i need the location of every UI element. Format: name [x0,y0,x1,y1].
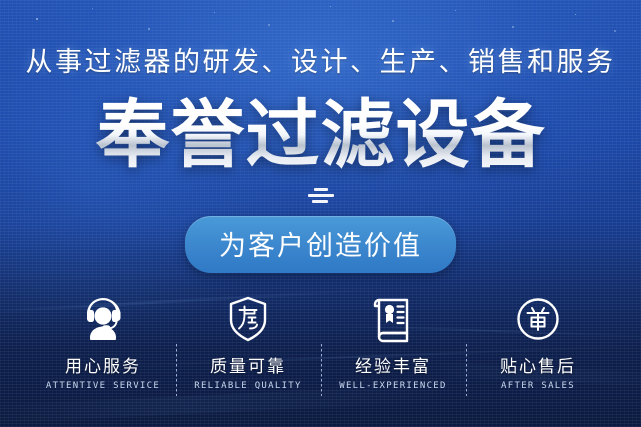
feature-item-attentive-service[interactable]: 用心服务 ATTENTIVE SERVICE [31,292,176,391]
feature-item-reliable-quality[interactable]: 质量可靠 RELIABLE QUALITY [176,292,321,391]
feature-title-cn: 用心服务 [31,352,176,377]
feature-title-en: WELL-EXPERIENCED [321,381,466,391]
shield-quality-icon [176,292,321,346]
feature-title-en: RELIABLE QUALITY [176,381,321,391]
after-sales-circle-icon [466,292,611,346]
feature-title-cn: 质量可靠 [176,352,321,377]
certificate-scroll-icon [321,292,466,346]
banner-title-wrap: 奉誉过滤设备 [0,92,641,178]
feature-title-cn: 经验丰富 [321,352,466,377]
promo-banner: 从事过滤器的研发、设计、生产、销售和服务 奉誉过滤设备 为客户创造价值 用心服务… [0,0,641,427]
feature-item-after-sales[interactable]: 贴心售后 AFTER SALES [466,292,611,391]
headset-support-icon [31,292,176,346]
three-bars-ornament-icon [308,188,334,203]
slogan-pill[interactable]: 为客户创造价值 [185,216,456,273]
feature-title-en: AFTER SALES [466,381,611,391]
feature-list: 用心服务 ATTENTIVE SERVICE [0,292,641,391]
banner-tagline: 从事过滤器的研发、设计、生产、销售和服务 [0,40,641,79]
slogan-pill-wrap: 为客户创造价值 [0,216,641,273]
page-title: 奉誉过滤设备 [96,92,546,178]
feature-title-en: ATTENTIVE SERVICE [31,381,176,391]
feature-title-cn: 贴心售后 [466,352,611,377]
feature-item-well-experienced[interactable]: 经验丰富 WELL-EXPERIENCED [321,292,466,391]
